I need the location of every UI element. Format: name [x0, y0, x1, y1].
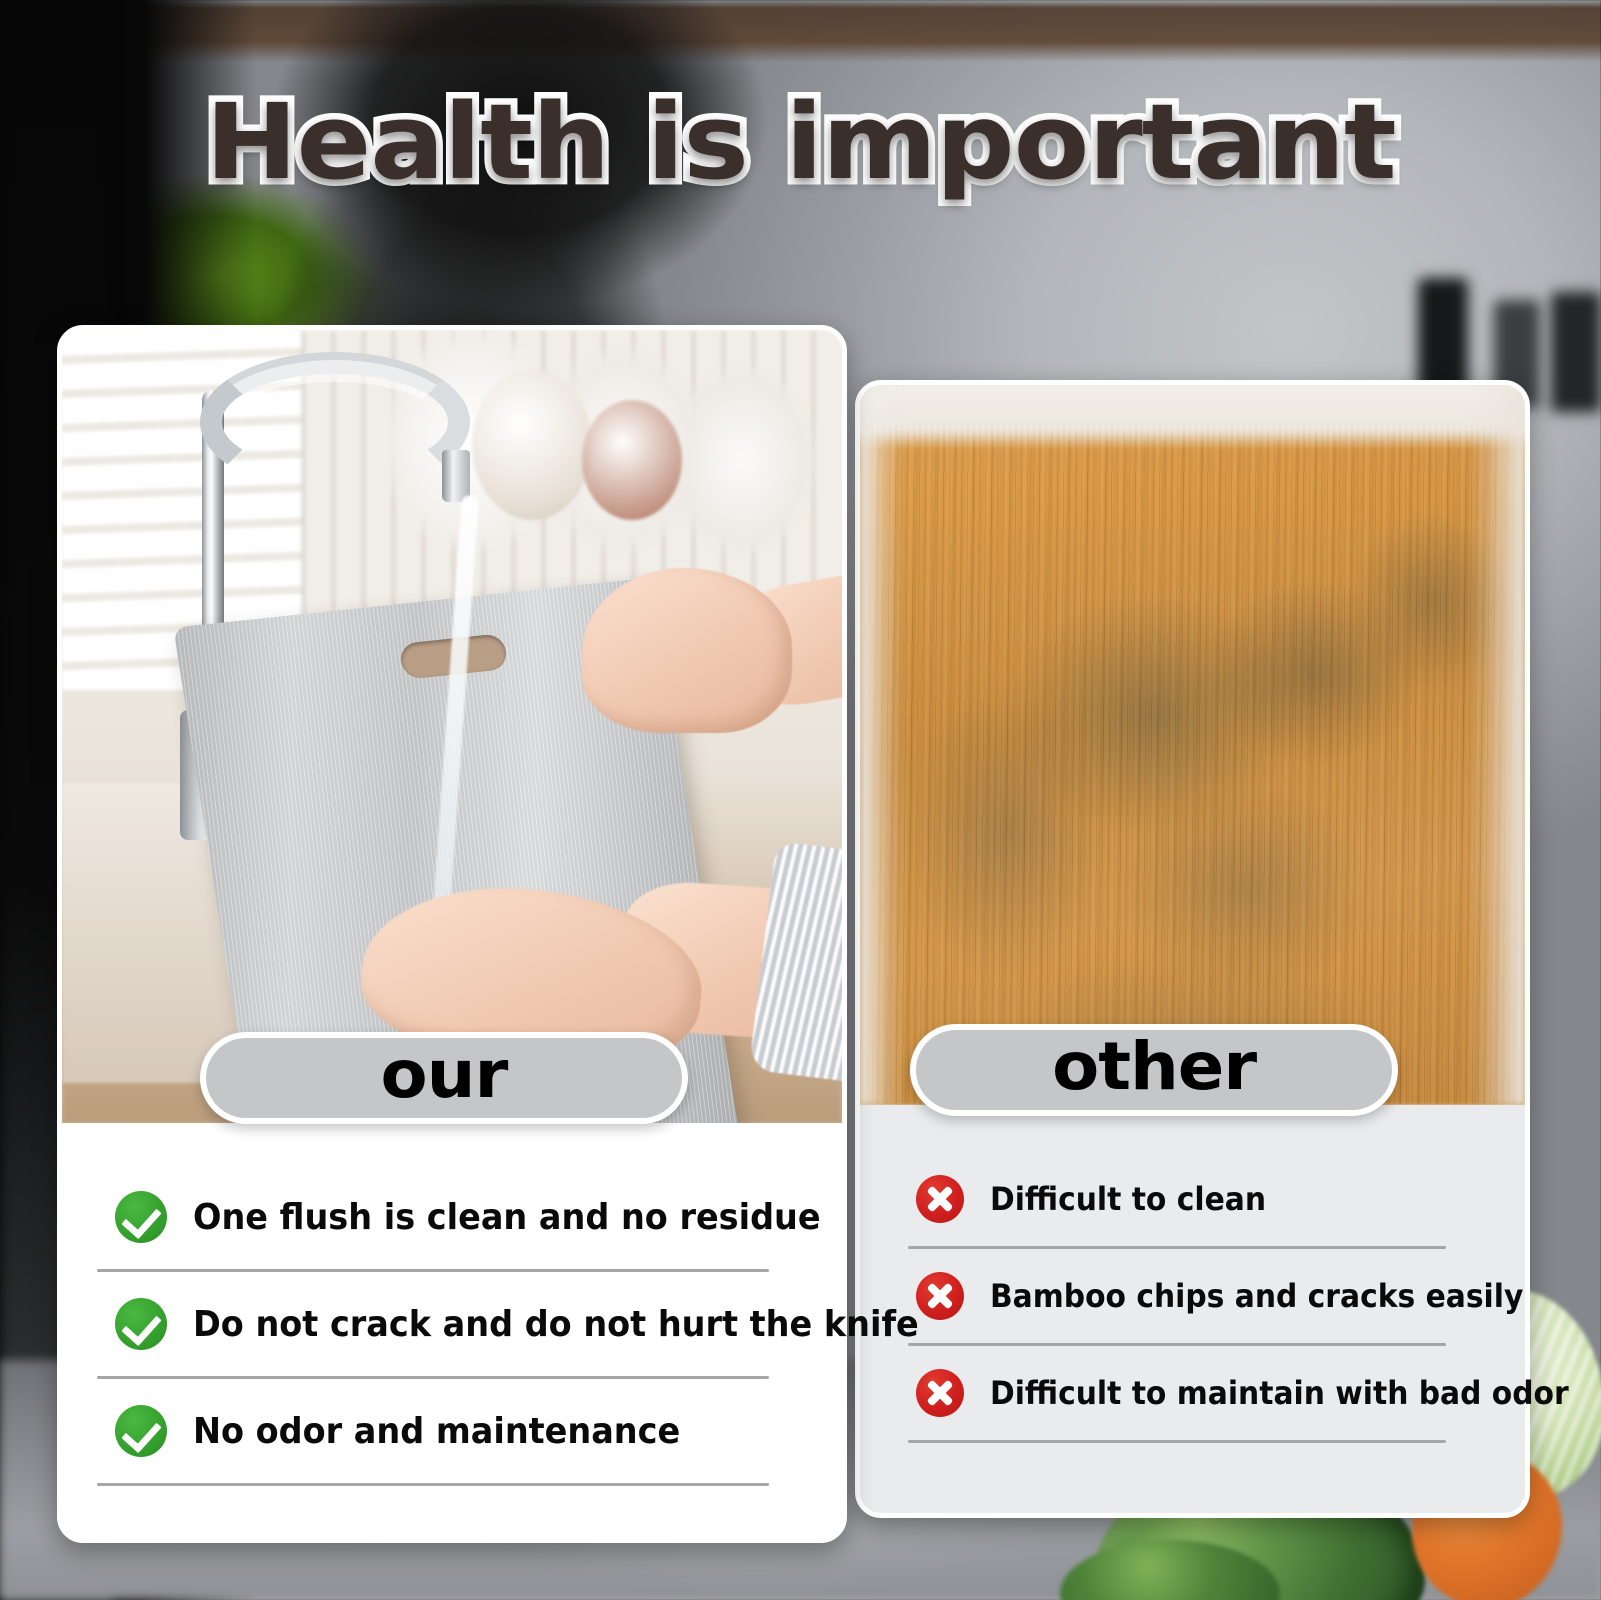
other-product-photo — [860, 385, 1525, 1105]
feature-row: Difficult to maintain with bad odor — [908, 1346, 1448, 1440]
label-badge-our-text: our — [381, 1042, 508, 1114]
feature-label: Difficult to clean — [990, 1180, 1266, 1218]
faucet-arc — [200, 352, 470, 492]
feature-list-our: One flush is clean and no residue Do not… — [97, 1165, 777, 1486]
bamboo-grain-texture — [860, 385, 1525, 1105]
feature-label: Bamboo chips and cracks easily — [990, 1277, 1523, 1315]
cross-icon — [916, 1272, 964, 1320]
feature-divider — [97, 1483, 769, 1486]
white-plate — [472, 370, 592, 520]
feature-row: Bamboo chips and cracks easily — [908, 1249, 1448, 1343]
check-icon — [115, 1298, 167, 1350]
our-product-photo: suyife — [62, 330, 842, 1123]
check-icon — [115, 1405, 167, 1457]
feature-label: Do not crack and do not hurt the knife — [193, 1304, 919, 1345]
check-icon — [115, 1191, 167, 1243]
background-canister-3 — [1551, 292, 1601, 412]
feature-label: One flush is clean and no residue — [193, 1197, 821, 1238]
label-badge-other: other — [910, 1024, 1398, 1116]
feature-row: One flush is clean and no residue — [97, 1165, 777, 1269]
feature-row: No odor and maintenance — [97, 1379, 777, 1483]
feature-divider — [908, 1440, 1446, 1443]
bamboo-right-edge — [1467, 385, 1525, 1105]
feature-row: Do not crack and do not hurt the knife — [97, 1272, 777, 1376]
feature-label: No odor and maintenance — [193, 1411, 680, 1452]
cross-icon — [916, 1175, 964, 1223]
label-badge-our: our — [200, 1032, 688, 1124]
page-title: Health is important — [0, 86, 1601, 198]
sink-scene: suyife — [62, 330, 842, 1123]
shirt-sleeve — [749, 841, 842, 1089]
feature-row: Difficult to clean — [908, 1152, 1448, 1246]
faucet-spout — [442, 450, 470, 502]
label-badge-other-text: other — [1052, 1034, 1256, 1106]
cross-icon — [916, 1369, 964, 1417]
infographic-canvas: Health is important — [0, 0, 1601, 1600]
bamboo-left-edge — [860, 385, 904, 1105]
feature-label: Difficult to maintain with bad odor — [990, 1374, 1569, 1412]
feature-list-other: Difficult to clean Bamboo chips and crac… — [908, 1152, 1448, 1443]
upper-hand — [582, 568, 792, 733]
brown-bowl — [582, 400, 682, 520]
bamboo-top-edge — [860, 385, 1525, 441]
